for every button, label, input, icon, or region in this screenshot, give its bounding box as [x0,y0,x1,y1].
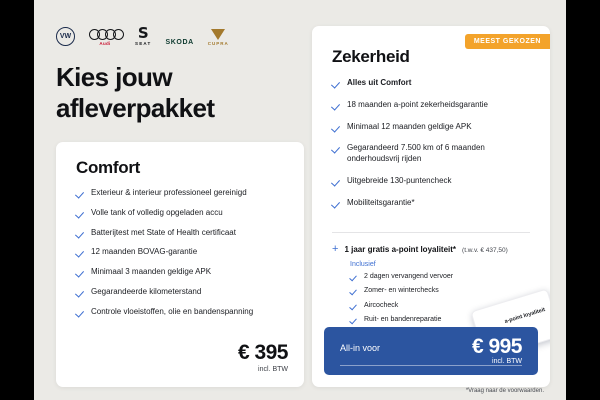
feature-text: Exterieur & interieur professioneel gere… [91,188,247,199]
check-icon [76,288,84,296]
zekerheid-feature-list: Alles uit Comfort 18 maanden a-point zek… [332,78,534,220]
check-icon [350,316,357,323]
feature-text: Minimaal 3 maanden geldige APK [91,267,211,278]
list-item: 18 maanden a-point zekerheidsgarantie [332,100,534,111]
feature-text: Volle tank of volledig opgeladen accu [91,208,223,219]
check-icon [350,273,357,280]
feature-text: Gegarandeerde kilometerstand [91,287,201,298]
zekerheid-price: € 995 [472,336,522,357]
check-icon [76,209,84,217]
allin-label: All-in voor [340,343,380,353]
check-icon [76,229,84,237]
list-item: 12 maanden BOVAG-garantie [76,247,288,258]
check-icon [332,199,340,207]
list-item: Gegarandeerd 7.500 km of 6 maanden onder… [332,143,534,165]
page-canvas: VW Audi S SEAT SKODA CUPRA Kies jouw afl… [34,0,566,400]
feature-text: 18 maanden a-point zekerheidsgarantie [347,100,488,111]
comfort-price-block: € 395 incl. BTW [238,342,288,373]
included-label: Inclusief [350,261,532,268]
list-item: Minimaal 3 maanden geldige APK [76,267,288,278]
list-item: Controle vloeistoffen, olie en bandenspa… [76,307,288,318]
check-icon [350,302,357,309]
list-item: Uitgebreide 130-puntencheck [332,176,534,187]
feature-text: Controle vloeistoffen, olie en bandenspa… [91,307,253,318]
allin-price-bar: All-in voor € 995 incl. BTW [324,327,538,375]
list-item: 2 dagen vervangend vervoer [350,272,532,281]
comfort-price-note: incl. BTW [238,366,288,373]
list-item: Minimaal 12 maanden geldige APK [332,122,534,133]
seat-wordmark: SEAT [135,41,151,46]
included-text: Zomer- en winterchecks [364,286,439,295]
footnote: *Vraag naar de voorwaarden. [466,388,544,394]
volkswagen-logo: VW [56,27,75,46]
letterbox-right [566,0,600,400]
check-icon [76,268,84,276]
check-icon [350,287,357,294]
cupra-logo: CUPRA [208,29,229,46]
skoda-logo: SKODA [165,39,193,46]
check-icon [332,123,340,131]
list-item: Batterijtest met State of Health certifi… [76,228,288,239]
audi-wordmark: Audi [99,41,110,46]
zekerheid-package-card[interactable]: MEEST GEKOZEN Zekerheid Alles uit Comfor… [312,26,550,387]
included-text: Ruit- en bandenreparatie [364,315,441,324]
feature-text: 12 maanden BOVAG-garantie [91,247,197,258]
check-icon [332,101,340,109]
check-icon [332,177,340,185]
letterbox-left [0,0,34,400]
zekerheid-title: Zekerheid [332,47,410,67]
feature-text: Minimaal 12 maanden geldige APK [347,122,472,133]
check-icon [76,189,84,197]
zekerheid-price-note: incl. BTW [492,358,522,365]
comfort-feature-list: Exterieur & interieur professioneel gere… [76,188,288,327]
list-item: Alles uit Comfort [332,78,534,89]
allin-rule [340,365,522,366]
loyalty-worth: (t.w.v. € 437,50) [462,247,508,254]
plus-icon: + [332,244,338,255]
cupra-triangle-icon [211,29,225,40]
included-text: Aircocheck [364,301,398,310]
list-item: Exterieur & interieur professioneel gere… [76,188,288,199]
section-divider [332,232,530,233]
status-badge: MEEST GEKOZEN [465,34,550,49]
list-item: Mobiliteitsgarantie* [332,198,534,209]
audi-logo: Audi [89,29,121,46]
seat-logo: S SEAT [135,27,151,46]
check-icon [76,248,84,256]
brand-logo-row: VW Audi S SEAT SKODA CUPRA [56,20,229,46]
feature-text: Gegarandeerd 7.500 km of 6 maanden onder… [347,143,534,165]
check-icon [332,79,340,87]
list-item: Gegarandeerde kilometerstand [76,287,288,298]
comfort-title: Comfort [76,158,140,178]
feature-text: Batterijtest met State of Health certifi… [91,228,236,239]
feature-text: Alles uit Comfort [347,78,411,89]
feature-text: Uitgebreide 130-puntencheck [347,176,452,187]
list-item: Zomer- en winterchecks [350,286,532,295]
audi-rings-icon [89,29,121,40]
check-icon [332,144,340,152]
skoda-wordmark: SKODA [165,39,193,46]
loyalty-heading: + 1 jaar gratis a-point loyaliteit* (t.w… [332,244,532,255]
page-title: Kies jouw afleverpakket [56,62,316,123]
check-icon [76,308,84,316]
list-item: Volle tank of volledig opgeladen accu [76,208,288,219]
loyalty-title: 1 jaar gratis a-point loyaliteit* [344,245,456,254]
included-text: 2 dagen vervangend vervoer [364,272,453,281]
feature-text: Mobiliteitsgarantie* [347,198,415,209]
volkswagen-roundel-icon: VW [56,27,75,46]
comfort-package-card[interactable]: Comfort Exterieur & interieur profession… [56,142,304,387]
seat-s-icon: S [138,27,149,40]
cupra-wordmark: CUPRA [208,41,229,46]
comfort-price: € 395 [238,342,288,363]
